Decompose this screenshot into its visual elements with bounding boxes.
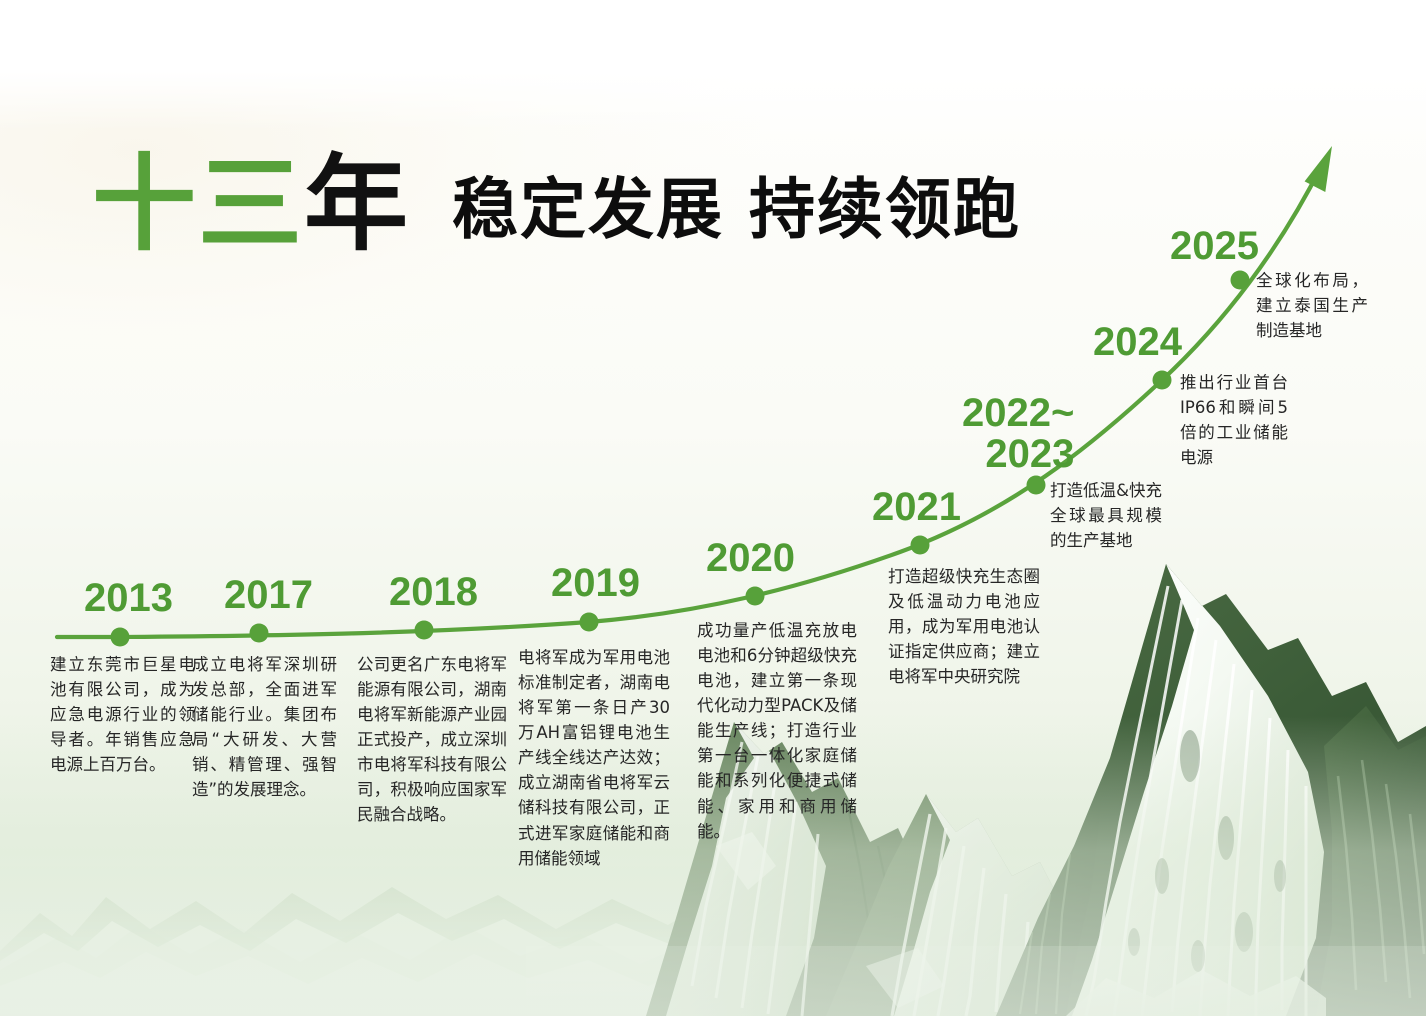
headline-green-text: 十三	[92, 152, 304, 256]
milestone-year-label: 2022~2023	[962, 393, 1074, 475]
milestone-description: 成功量产低温充放电电池和6分钟超级快充电池，建立第一条现代化动力型PACK及储能…	[697, 618, 857, 844]
milestone-description: 成立电将军深圳研发总部，全面进军储能行业。集团布局“大研发、大营销、精管理、强智…	[192, 652, 337, 802]
milestone-year-label: 2020	[706, 538, 795, 579]
infographic-canvas: 十三 年 稳定发展 持续领跑 2013建立东莞市巨星电池有限公司，成为应急电源行…	[0, 0, 1426, 1016]
milestone-year-label: 2013	[84, 578, 173, 619]
headline-black-text: 年	[304, 152, 410, 256]
milestone-description: 打造超级快充生态圈及低温动力电池应用，成为军用电池认证指定供应商；建立电将军中央…	[888, 564, 1040, 689]
page-title: 十三 年 稳定发展 持续领跑	[92, 152, 1021, 256]
milestone-description: 建立东莞市巨星电池有限公司，成为应急电源行业的领导者。年销售应急电源上百万台。	[50, 652, 195, 777]
headline-subtitle: 稳定发展 持续领跑	[452, 177, 1021, 243]
milestone-year-label: 2021	[872, 487, 961, 528]
milestone-year-label: 2018	[389, 572, 478, 613]
milestone-description: 打造低温&快充全球最具规模的生产基地	[1050, 478, 1162, 553]
milestone-description: 全球化布局，建立泰国生产制造基地	[1256, 268, 1368, 343]
milestone-description: 电将军成为军用电池标准制定者，湖南电将军第一条日产30万AH富铝锂电池生产线全线…	[518, 645, 670, 871]
milestone-description: 推出行业首台IP66和瞬间5倍的工业储能电源	[1180, 370, 1288, 470]
milestone-year-label: 2024	[1093, 322, 1182, 363]
background-top-white	[0, 0, 1426, 130]
milestone-description: 公司更名广东电将军能源有限公司，湖南电将军新能源产业园正式投产，成立深圳市电将军…	[357, 652, 507, 828]
milestone-year-label: 2017	[224, 575, 313, 616]
milestone-year-label: 2019	[551, 563, 640, 604]
milestone-year-label: 2025	[1170, 226, 1259, 267]
